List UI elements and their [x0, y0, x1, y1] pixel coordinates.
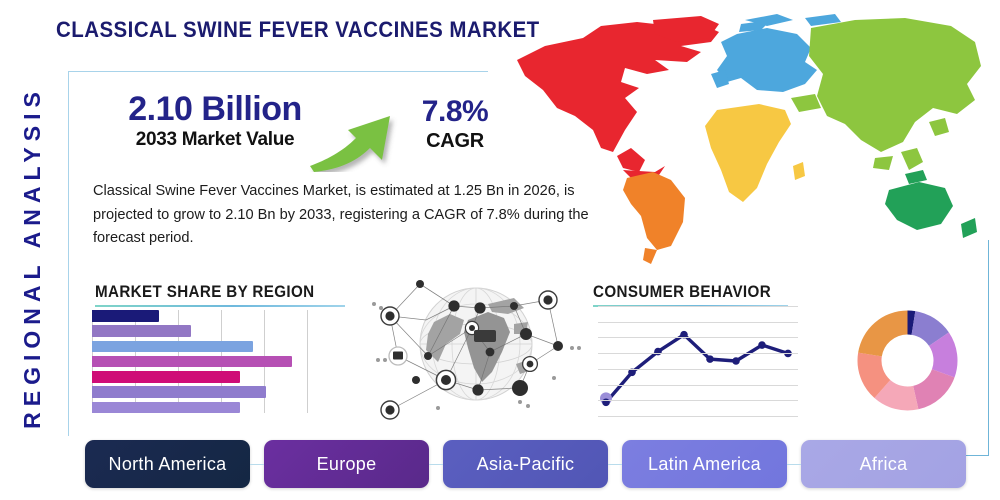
kpi-row: 2.10 Billion 2033 Market Value 7.8% CAGR [90, 92, 500, 172]
region-button-group: North AmericaEuropeAsia-PacificLatin Ame… [85, 440, 966, 488]
region-connector [250, 464, 264, 465]
panel-top-border [68, 71, 488, 72]
bar-5 [92, 371, 240, 383]
bar-6 [92, 386, 266, 398]
bar-row [92, 325, 307, 337]
market-value-label: 2033 Market Value [110, 130, 320, 151]
market-share-title: MARKET SHARE BY REGION [95, 283, 325, 302]
line-gridline [598, 353, 798, 354]
cagr-label: CAGR [395, 130, 515, 152]
region-button-asia-pacific[interactable]: Asia-Pacific [443, 440, 608, 488]
line-chart-gridlines [598, 306, 798, 416]
market-value: 2.10 Billion [110, 92, 320, 128]
consumer-behavior-title: CONSUMER BEHAVIOR [593, 283, 772, 302]
donut-chart [855, 308, 960, 413]
bar-1 [92, 310, 159, 322]
panel-right-border [988, 240, 989, 456]
line-gridline [598, 337, 798, 338]
cagr-block: 7.8% CAGR [395, 96, 515, 152]
bar-7 [92, 402, 240, 414]
donut-segment-7 [858, 311, 907, 357]
market-share-bar-chart [92, 310, 307, 413]
line-gridline [598, 400, 798, 401]
region-button-europe[interactable]: Europe [264, 440, 429, 488]
region-connector [429, 464, 443, 465]
line-gridline [598, 416, 798, 417]
infographic-root: CLASSICAL SWINE FEVER VACCINES MARKET RE… [0, 0, 1000, 500]
line-gridline [598, 306, 798, 307]
bar-gridline [307, 310, 308, 413]
market-value-block: 2.10 Billion 2033 Market Value [110, 92, 320, 151]
market-share-underline [95, 305, 345, 307]
bar-4 [92, 356, 292, 368]
line-gridline [598, 322, 798, 323]
line-gridline [598, 369, 798, 370]
line-gridline [598, 385, 798, 386]
bar-row [92, 356, 307, 368]
region-connector [608, 464, 622, 465]
bar-row [92, 341, 307, 353]
donut-segment-4 [913, 369, 954, 409]
region-button-north-america[interactable]: North America [85, 440, 250, 488]
bar-2 [92, 325, 191, 337]
globe-network-icon [368, 268, 588, 423]
bar-3 [92, 341, 253, 353]
side-label: REGIONAL ANALYSIS [10, 62, 54, 452]
region-button-africa[interactable]: Africa [801, 440, 966, 488]
page-title: CLASSICAL SWINE FEVER VACCINES MARKET [56, 17, 540, 43]
consumer-behavior-line-chart [598, 306, 798, 416]
region-connector [787, 464, 801, 465]
bar-row [92, 310, 307, 322]
world-map-icon [505, 12, 995, 267]
cagr-value: 7.8% [395, 96, 515, 128]
side-label-text: REGIONAL ANALYSIS [19, 86, 46, 429]
bar-row [92, 371, 307, 383]
bar-row [92, 386, 307, 398]
donut-chart-svg [855, 308, 960, 413]
market-share-heading: MARKET SHARE BY REGION [95, 283, 345, 307]
bar-chart-bars [92, 310, 307, 413]
region-button-latin-america[interactable]: Latin America [622, 440, 787, 488]
bar-row [92, 402, 307, 414]
panel-left-border [68, 71, 69, 436]
consumer-behavior-heading: CONSUMER BEHAVIOR [593, 283, 788, 307]
